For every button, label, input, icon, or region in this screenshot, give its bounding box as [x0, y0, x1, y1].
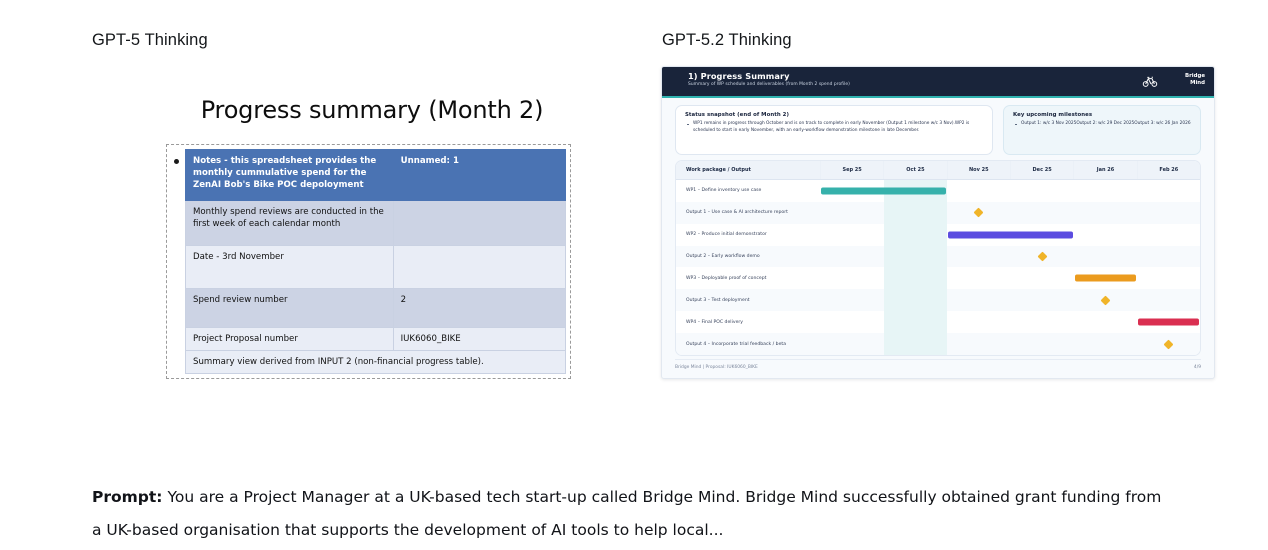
- table-cell-label: Date - 3rd November: [186, 246, 394, 289]
- gantt-row: Output 1 – Use case & AI architecture re…: [676, 202, 1200, 224]
- table-row: Monthly spend reviews are conducted in t…: [186, 201, 566, 246]
- gantt-cell: [947, 289, 1010, 311]
- gantt-cell: [1074, 267, 1137, 289]
- gantt-cell: [884, 289, 947, 311]
- prompt-block: Prompt: You are a Project Manager at a U…: [92, 481, 1162, 546]
- gantt-cell: [1010, 246, 1073, 268]
- gantt-label-header: Work package / Output: [676, 161, 820, 180]
- gantt-cell: [1074, 311, 1137, 333]
- gantt-row-label: WP1 – Define inventory use case: [676, 180, 820, 202]
- gantt-row-label: Output 4 – Incorporate trial feedback / …: [676, 333, 820, 355]
- gantt-month-header: Oct 25: [884, 161, 947, 180]
- left-artifact-slide: Progress summary (Month 2) Notes - this …: [92, 84, 612, 374]
- right-column-caption: GPT-5.2 Thinking: [662, 31, 792, 50]
- table-cell-value: 2: [393, 289, 565, 328]
- gantt-cell: [1010, 267, 1073, 289]
- gantt-cell: [1137, 289, 1200, 311]
- table-cell-label: Spend review number: [186, 289, 394, 328]
- gantt-cell: [1010, 180, 1073, 202]
- gantt-row: WP3 – Deployable proof of concept: [676, 267, 1200, 289]
- footer-proposal-text: Bridge Mind | Proposal: IUK6060_BIKE: [675, 365, 758, 370]
- gantt-month-header: Feb 26: [1137, 161, 1200, 180]
- gantt-cell: [947, 202, 1010, 224]
- gantt-cell: [947, 180, 1010, 202]
- gantt-cell: [1137, 202, 1200, 224]
- brand-logo-text: Bridge Mind: [1163, 73, 1205, 87]
- gantt-cell: [1010, 311, 1073, 333]
- gantt-cell: [820, 267, 883, 289]
- table-row: Project Proposal number IUK6060_BIKE: [186, 328, 566, 351]
- key-milestones-card: Key upcoming milestones Output 1: w/c 3 …: [1003, 105, 1201, 155]
- table-header-cell-unnamed: Unnamed: 1: [393, 150, 565, 201]
- gantt-cell: [947, 267, 1010, 289]
- gantt-cell: [1010, 224, 1073, 246]
- gantt-cell: [820, 224, 883, 246]
- gantt-cell: [1074, 246, 1137, 268]
- gantt-header-row: Work package / Output Sep 25Oct 25Nov 25…: [676, 161, 1200, 180]
- progress-summary-table: Notes - this spreadsheet provides the mo…: [185, 149, 566, 374]
- slide-footer: Bridge Mind | Proposal: IUK6060_BIKE 4/9: [675, 359, 1201, 374]
- gantt-row-label: WP3 – Deployable proof of concept: [676, 267, 820, 289]
- gantt-bar: [1138, 319, 1199, 326]
- gantt-month-header: Jan 26: [1074, 161, 1137, 180]
- key-milestones-body: Output 1: w/c 3 Nov 2025Output 2: w/c 29…: [1013, 121, 1191, 128]
- gantt-cell: [884, 224, 947, 246]
- gantt-cell: [1010, 333, 1073, 355]
- gantt-cell: [884, 267, 947, 289]
- gantt-cell: [1074, 289, 1137, 311]
- gantt-month-header: Nov 25: [947, 161, 1010, 180]
- status-snapshot-card: Status snapshot (end of Month 2) WP1 rem…: [675, 105, 993, 155]
- gantt-cell: [1010, 289, 1073, 311]
- gantt-row: Output 2 – Early workflow demo: [676, 246, 1200, 268]
- bullet-marker: [174, 159, 179, 164]
- table-cell-label: Project Proposal number: [186, 328, 394, 351]
- brand-logo-line1: Bridge: [1185, 73, 1205, 79]
- gantt-cell: [1137, 267, 1200, 289]
- gantt-cell: [884, 333, 947, 355]
- gantt-cell: [820, 180, 883, 202]
- gantt-bar: [1009, 231, 1072, 238]
- slide-header-band: 1) Progress Summary Summary of WP schedu…: [662, 67, 1214, 98]
- gantt-milestone-diamond: [974, 208, 984, 218]
- gantt-cell: [884, 180, 947, 202]
- slide-header-subtitle: Summary of WP schedule and deliverables …: [688, 82, 850, 87]
- gantt-cell: [820, 289, 883, 311]
- gantt-cell: [947, 333, 1010, 355]
- table-row: Spend review number 2: [186, 289, 566, 328]
- prompt-text: You are a Project Manager at a UK-based …: [92, 488, 1161, 539]
- gantt-cell: [884, 246, 947, 268]
- gantt-cell: [1074, 180, 1137, 202]
- gantt-cell: [820, 202, 883, 224]
- gantt-cell: [820, 311, 883, 333]
- gantt-cell: [1137, 246, 1200, 268]
- table-footnote-cell: Summary view derived from INPUT 2 (non-f…: [186, 351, 566, 374]
- gantt-bar: [821, 187, 884, 194]
- gantt-cell: [1137, 333, 1200, 355]
- gantt-cell: [1137, 224, 1200, 246]
- footer-page-number: 4/9: [1194, 365, 1201, 370]
- table-cell-value: IUK6060_BIKE: [393, 328, 565, 351]
- gantt-cell: [1074, 202, 1137, 224]
- gantt-cell: [884, 202, 947, 224]
- left-column-caption: GPT-5 Thinking: [92, 31, 208, 50]
- table-cell-label: Monthly spend reviews are conducted in t…: [186, 201, 394, 246]
- prompt-label: Prompt:: [92, 488, 163, 506]
- bicycle-icon: [1142, 73, 1158, 89]
- table-header-cell-notes: Notes - this spreadsheet provides the mo…: [186, 150, 394, 201]
- gantt-cell: [1074, 224, 1137, 246]
- gantt-row-label: WP4 – Final POC delivery: [676, 311, 820, 333]
- slide-header-title: 1) Progress Summary: [688, 71, 790, 81]
- gantt-table: Work package / Output Sep 25Oct 25Nov 25…: [676, 161, 1200, 355]
- gantt-row-label: WP2 – Produce initial demonstrator: [676, 224, 820, 246]
- gantt-cell: [820, 333, 883, 355]
- status-snapshot-title: Status snapshot (end of Month 2): [685, 112, 983, 118]
- gantt-cell: [1074, 333, 1137, 355]
- gantt-row: Output 3 – Test deployment: [676, 289, 1200, 311]
- gantt-bar: [883, 187, 946, 194]
- gantt-milestone-diamond: [1101, 295, 1111, 305]
- gantt-milestone-diamond: [1037, 252, 1047, 262]
- gantt-row: WP1 – Define inventory use case: [676, 180, 1200, 202]
- info-cards-row: Status snapshot (end of Month 2) WP1 rem…: [662, 100, 1214, 155]
- gantt-cell: [1010, 202, 1073, 224]
- right-artifact-slide: 1) Progress Summary Summary of WP schedu…: [661, 66, 1215, 379]
- gantt-bar: [1075, 275, 1136, 282]
- brand-logo-line2: Mind: [1190, 80, 1205, 86]
- table-cell-value: [393, 201, 565, 246]
- gantt-milestone-diamond: [1164, 339, 1174, 349]
- gantt-cell: [1137, 311, 1200, 333]
- gantt-cell: [1137, 180, 1200, 202]
- table-footnote-row: Summary view derived from INPUT 2 (non-f…: [186, 351, 566, 374]
- gantt-body: WP1 – Define inventory use caseOutput 1 …: [676, 180, 1200, 356]
- table-header-row: Notes - this spreadsheet provides the mo…: [186, 150, 566, 201]
- left-table-selection-frame[interactable]: Notes - this spreadsheet provides the mo…: [166, 144, 571, 379]
- gantt-cell: [947, 311, 1010, 333]
- gantt-cell: [947, 224, 1010, 246]
- gantt-month-header: Sep 25: [820, 161, 883, 180]
- gantt-bar: [948, 231, 1011, 238]
- gantt-cell: [947, 246, 1010, 268]
- gantt-row: WP2 – Produce initial demonstrator: [676, 224, 1200, 246]
- gantt-row-label: Output 1 – Use case & AI architecture re…: [676, 202, 820, 224]
- table-row: Date - 3rd November: [186, 246, 566, 289]
- gantt-row-label: Output 3 – Test deployment: [676, 289, 820, 311]
- gantt-row-label: Output 2 – Early workflow demo: [676, 246, 820, 268]
- gantt-row: WP4 – Final POC delivery: [676, 311, 1200, 333]
- gantt-chart: Work package / Output Sep 25Oct 25Nov 25…: [675, 160, 1201, 356]
- left-slide-title: Progress summary (Month 2): [152, 96, 592, 124]
- gantt-month-header: Dec 25: [1010, 161, 1073, 180]
- gantt-cell: [820, 246, 883, 268]
- table-cell-value: [393, 246, 565, 289]
- gantt-cell: [884, 311, 947, 333]
- status-snapshot-body: WP1 remains in progress through October …: [685, 121, 983, 135]
- key-milestones-title: Key upcoming milestones: [1013, 112, 1191, 118]
- gantt-row: Output 4 – Incorporate trial feedback / …: [676, 333, 1200, 355]
